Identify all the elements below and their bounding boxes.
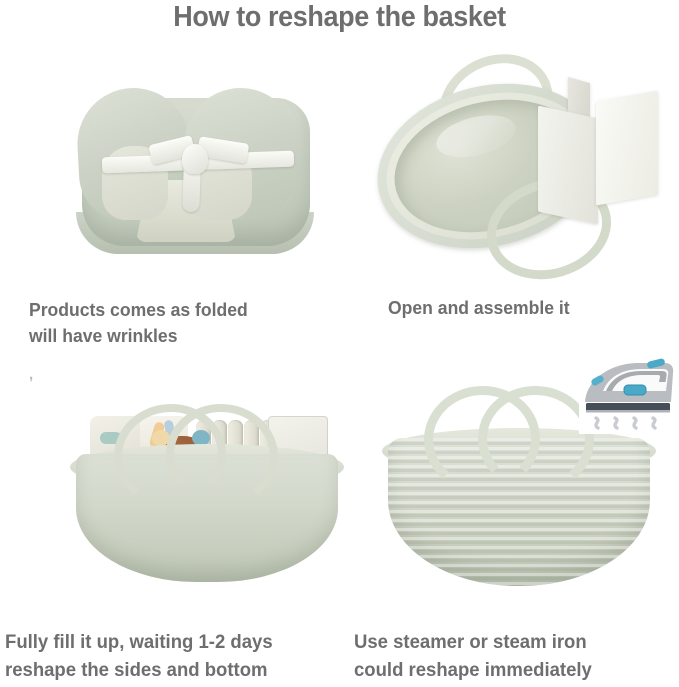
step-2-caption: Open and assemble it: [388, 295, 570, 321]
basket-handle-lower: [475, 165, 623, 280]
iron-sole-edge: [586, 410, 670, 413]
basket-rim: [382, 428, 656, 474]
basket-rim: [70, 444, 344, 490]
basket-roll-lobe-left: [75, 85, 194, 223]
step-1-image-folded-basket: [62, 62, 332, 277]
iron-sole-plate: [586, 403, 670, 411]
lining-fold-highlight: [432, 108, 520, 165]
basket-oval-outer: [362, 61, 618, 271]
page-title: How to reshape the basket: [24, 1, 655, 34]
toy-snout: [165, 464, 197, 478]
basket-contents: [84, 412, 332, 478]
basket-handle-right: [161, 402, 283, 512]
toy-eye-right: [187, 454, 192, 459]
basket-oval-interior: [380, 81, 597, 252]
basket-mouth: [84, 450, 330, 484]
step-2-image-open-basket: [362, 52, 679, 280]
diaper-roll: [212, 420, 227, 478]
wipes-package: [268, 416, 328, 476]
ribbon-loop-right: [197, 136, 250, 164]
basket-base-coil: [76, 212, 314, 254]
basket-oval-rim: [371, 72, 607, 260]
ribbon-loop-left: [148, 135, 196, 165]
diaper-roll: [196, 420, 211, 478]
ribbon-knot: [182, 144, 208, 174]
step-3-image-filled-basket: [62, 402, 352, 620]
ribbon-tail: [182, 166, 201, 213]
divider-panel-left: [538, 106, 598, 225]
inner-divider-right: [524, 434, 580, 466]
divider-panel-right: [596, 91, 658, 206]
toy-eye-left: [168, 454, 173, 459]
step-1-caption: Products comes as folded will have wrink…: [29, 297, 248, 349]
basket-body: [76, 454, 338, 582]
inner-divider-center: [494, 432, 520, 466]
basket-handle-left: [420, 382, 543, 496]
steam-iron-glyph: [579, 358, 677, 434]
step-4-caption: Use steamer or steam iron could reshape …: [354, 628, 592, 684]
stuffed-bear-toy: [154, 436, 208, 478]
basket-rolled-body: [82, 98, 310, 246]
basket-lining-peek: [136, 180, 236, 242]
folded-cloth-left: [90, 416, 152, 476]
folded-cloth-center: [140, 416, 188, 474]
step-1-stray-mark: ,: [29, 366, 33, 383]
diaper-roll: [228, 420, 243, 478]
folded-basket-illustration: [62, 62, 332, 277]
basket-body: [388, 438, 650, 586]
instruction-infographic: How to reshape the basket: [0, 0, 679, 687]
basket-roll-lobe-right: [181, 85, 300, 223]
basket-handle-upper: [423, 52, 568, 171]
ribbon-band: [102, 151, 294, 174]
basket-roll-inner-left: [102, 146, 168, 220]
inner-divider-left: [436, 434, 490, 466]
divider-panel-back: [568, 77, 590, 123]
toy-ear-right: [192, 430, 210, 446]
basket-handle-left: [109, 402, 231, 512]
toy-ear-left: [152, 430, 170, 446]
diaper-roll: [260, 420, 275, 478]
step-3-caption: Fully fill it up, waiting 1-2 days resha…: [5, 628, 273, 684]
rope-coil-texture: [388, 438, 650, 586]
iron-steam-button: [624, 385, 646, 395]
steam-iron-icon: [579, 358, 677, 434]
basket-interior-lining: [402, 430, 636, 470]
basket-roll-inner-right: [186, 146, 252, 220]
diaper-roll: [244, 420, 259, 478]
